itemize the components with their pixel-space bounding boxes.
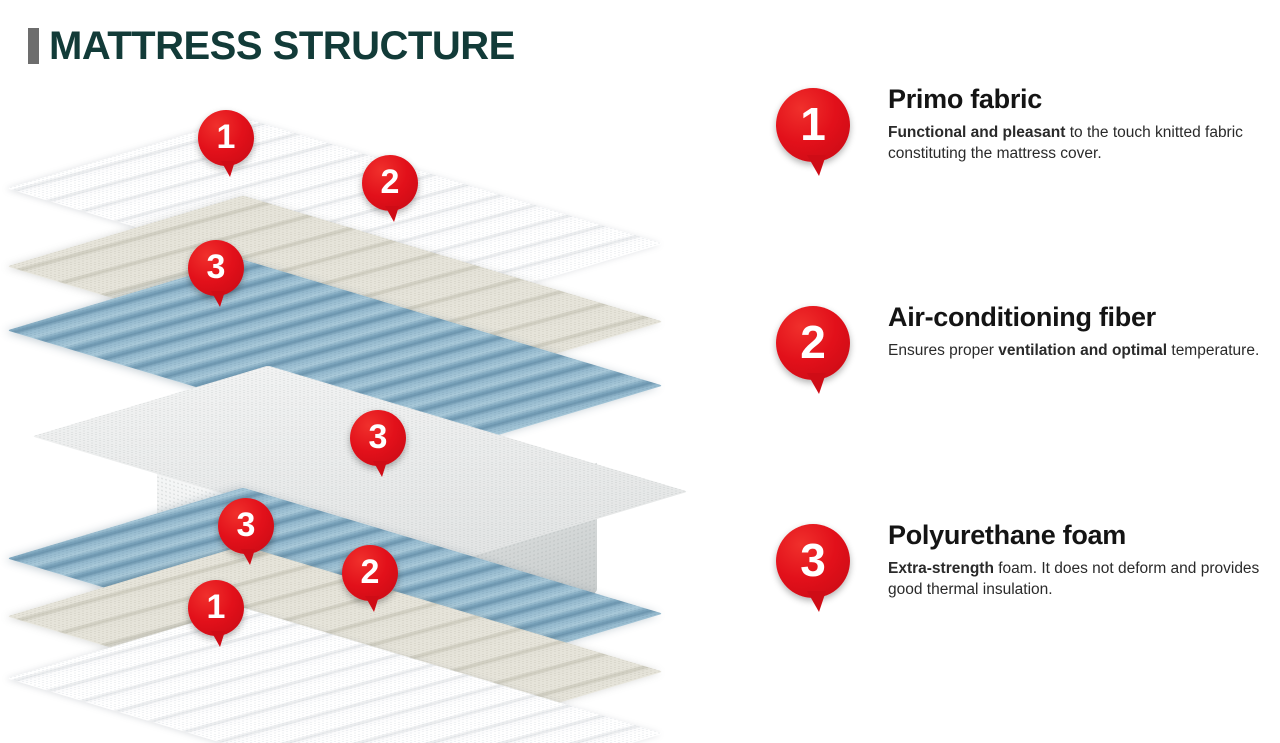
diagram-marker-label: 3 <box>207 250 226 284</box>
mattress-diagram: 1 2 3 3 3 2 1 <box>30 80 730 720</box>
diagram-marker-label: 1 <box>207 590 226 624</box>
diagram-marker-2-top[interactable]: 2 <box>362 155 418 211</box>
legend-desc-1: Functional and pleasant to the touch kni… <box>888 122 1260 165</box>
diagram-marker-label: 2 <box>381 165 400 199</box>
legend-desc-1-bold: Functional and pleasant <box>888 124 1065 141</box>
legend-item-1: 1 Primo fabric Functional and pleasant t… <box>770 84 1260 174</box>
diagram-marker-1-top[interactable]: 1 <box>198 110 254 166</box>
legend-desc-2-pre: Ensures proper <box>888 342 998 359</box>
diagram-marker-label: 3 <box>237 508 256 542</box>
legend-marker-label: 3 <box>800 537 826 583</box>
legend-desc-2: Ensures proper ventilation and optimal t… <box>888 340 1260 361</box>
legend-marker-2[interactable]: 2 <box>776 306 850 380</box>
legend-desc-2-rest: temperature. <box>1167 342 1259 359</box>
page-title: MATTRESS STRUCTURE <box>49 26 515 66</box>
legend-marker-label: 2 <box>800 319 826 365</box>
legend-title-3: Polyurethane foam <box>888 520 1260 551</box>
legend-title-2: Air-conditioning fiber <box>888 302 1260 333</box>
title-accent-bar <box>28 28 39 64</box>
diagram-marker-label: 1 <box>217 120 236 154</box>
legend-marker-label: 1 <box>800 101 826 147</box>
diagram-marker-1-bottom[interactable]: 1 <box>188 580 244 636</box>
diagram-marker-3-top[interactable]: 3 <box>188 240 244 296</box>
legend-item-2: 2 Air-conditioning fiber Ensures proper … <box>770 302 1260 392</box>
legend-desc-3: Extra-strength foam. It does not deform … <box>888 558 1260 601</box>
legend-list: 1 Primo fabric Functional and pleasant t… <box>770 84 1260 610</box>
legend-desc-3-bold: Extra-strength <box>888 560 994 577</box>
legend-title-1: Primo fabric <box>888 84 1260 115</box>
diagram-marker-3-core[interactable]: 3 <box>350 410 406 466</box>
diagram-marker-label: 2 <box>361 555 380 589</box>
diagram-marker-label: 3 <box>369 420 388 454</box>
page-header: MATTRESS STRUCTURE <box>28 26 515 66</box>
legend-marker-3[interactable]: 3 <box>776 524 850 598</box>
diagram-marker-3-bottom[interactable]: 3 <box>218 498 274 554</box>
legend-desc-2-bold: ventilation and optimal <box>998 342 1167 359</box>
diagram-marker-2-bottom[interactable]: 2 <box>342 545 398 601</box>
legend-item-3: 3 Polyurethane foam Extra-strength foam.… <box>770 520 1260 610</box>
legend-marker-1[interactable]: 1 <box>776 88 850 162</box>
